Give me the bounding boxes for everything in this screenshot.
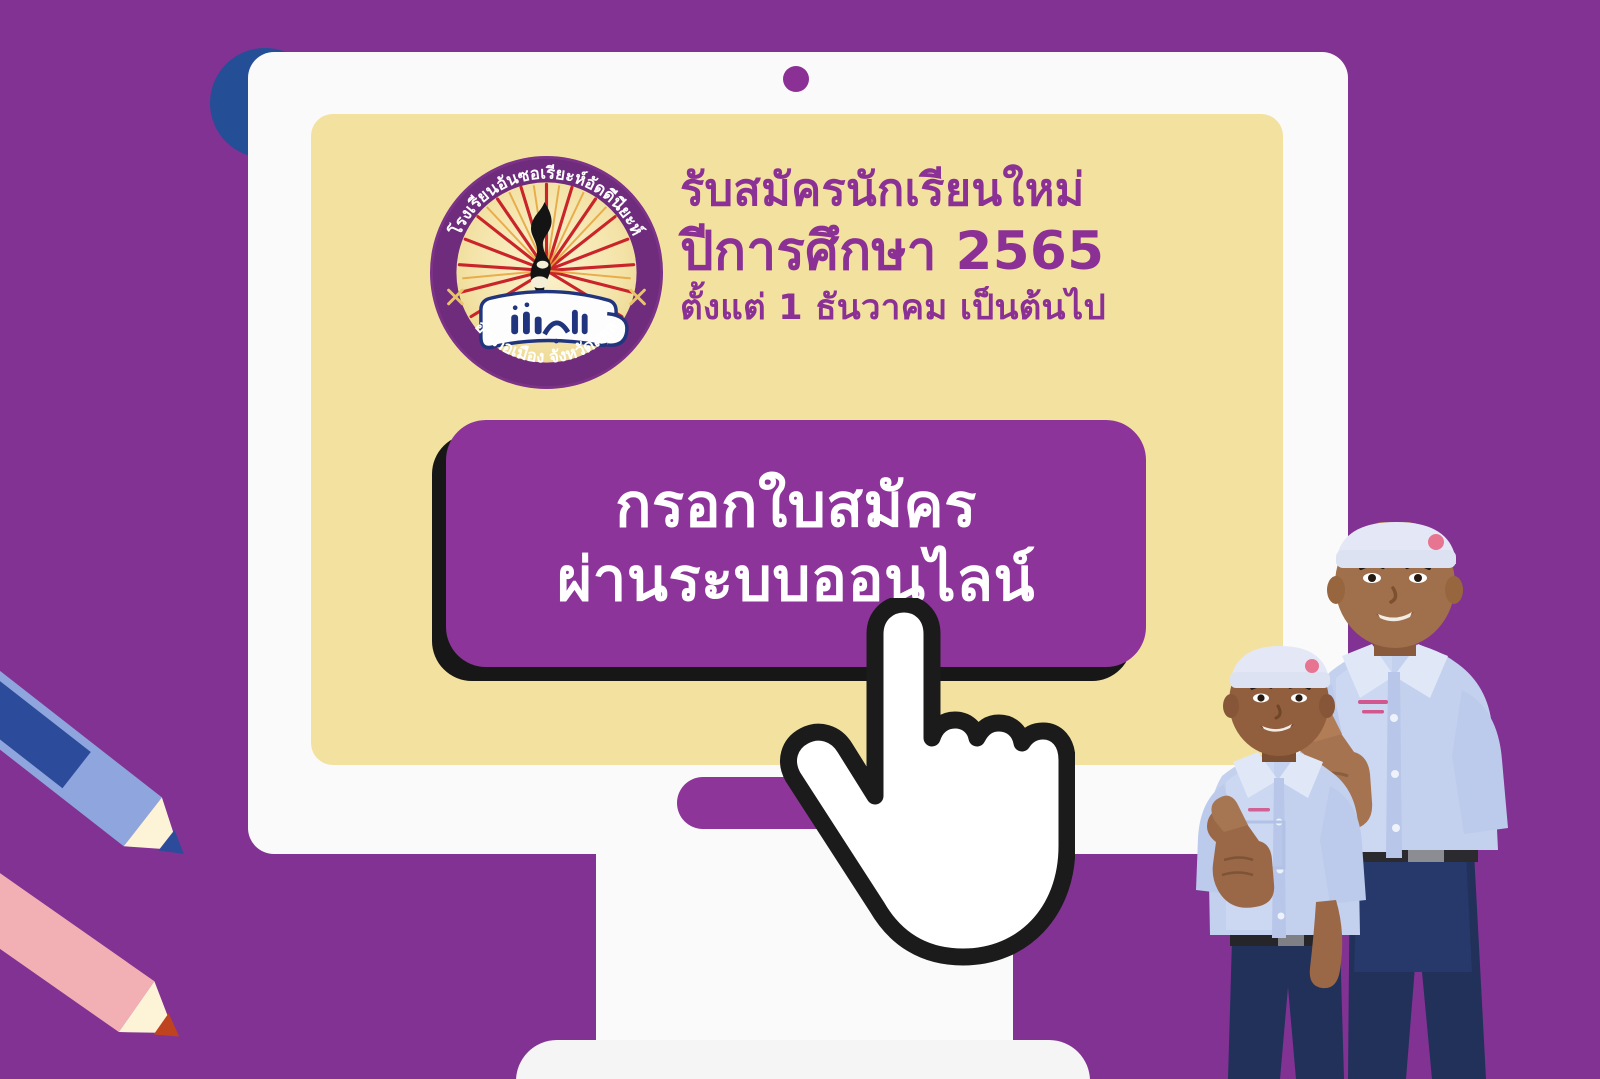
cta-label: กรอกใบสมัคร ผ่านระบบออนไลน์ bbox=[557, 470, 1035, 616]
headline-start-date: ตั้งแต่ 1 ธันวาคม เป็นต้นไป bbox=[680, 286, 1280, 332]
webcam-dot bbox=[783, 66, 809, 92]
hand-pointer-cursor[interactable] bbox=[775, 598, 1075, 983]
pencil-blue bbox=[0, 655, 208, 882]
poster-canvas: โรงเรียนอันซอเรียะห์อัดดีนียะห์ อำเภอเมื… bbox=[0, 0, 1600, 1079]
school-emblem-logo: โรงเรียนอันซอเรียะห์อัดดีนียะห์ อำเภอเมื… bbox=[429, 155, 664, 390]
headline-academic-year: ปีการศึกษา 2565 bbox=[680, 219, 1280, 286]
headline-block: รับสมัครนักเรียนใหม่ ปีการศึกษา 2565 ตั้… bbox=[680, 160, 1280, 332]
headline-primary: รับสมัครนักเรียนใหม่ bbox=[680, 160, 1280, 219]
cta-line-1: กรอกใบสมัคร bbox=[557, 470, 1035, 543]
students-photo bbox=[1186, 522, 1600, 1079]
monitor-base bbox=[516, 1040, 1090, 1079]
